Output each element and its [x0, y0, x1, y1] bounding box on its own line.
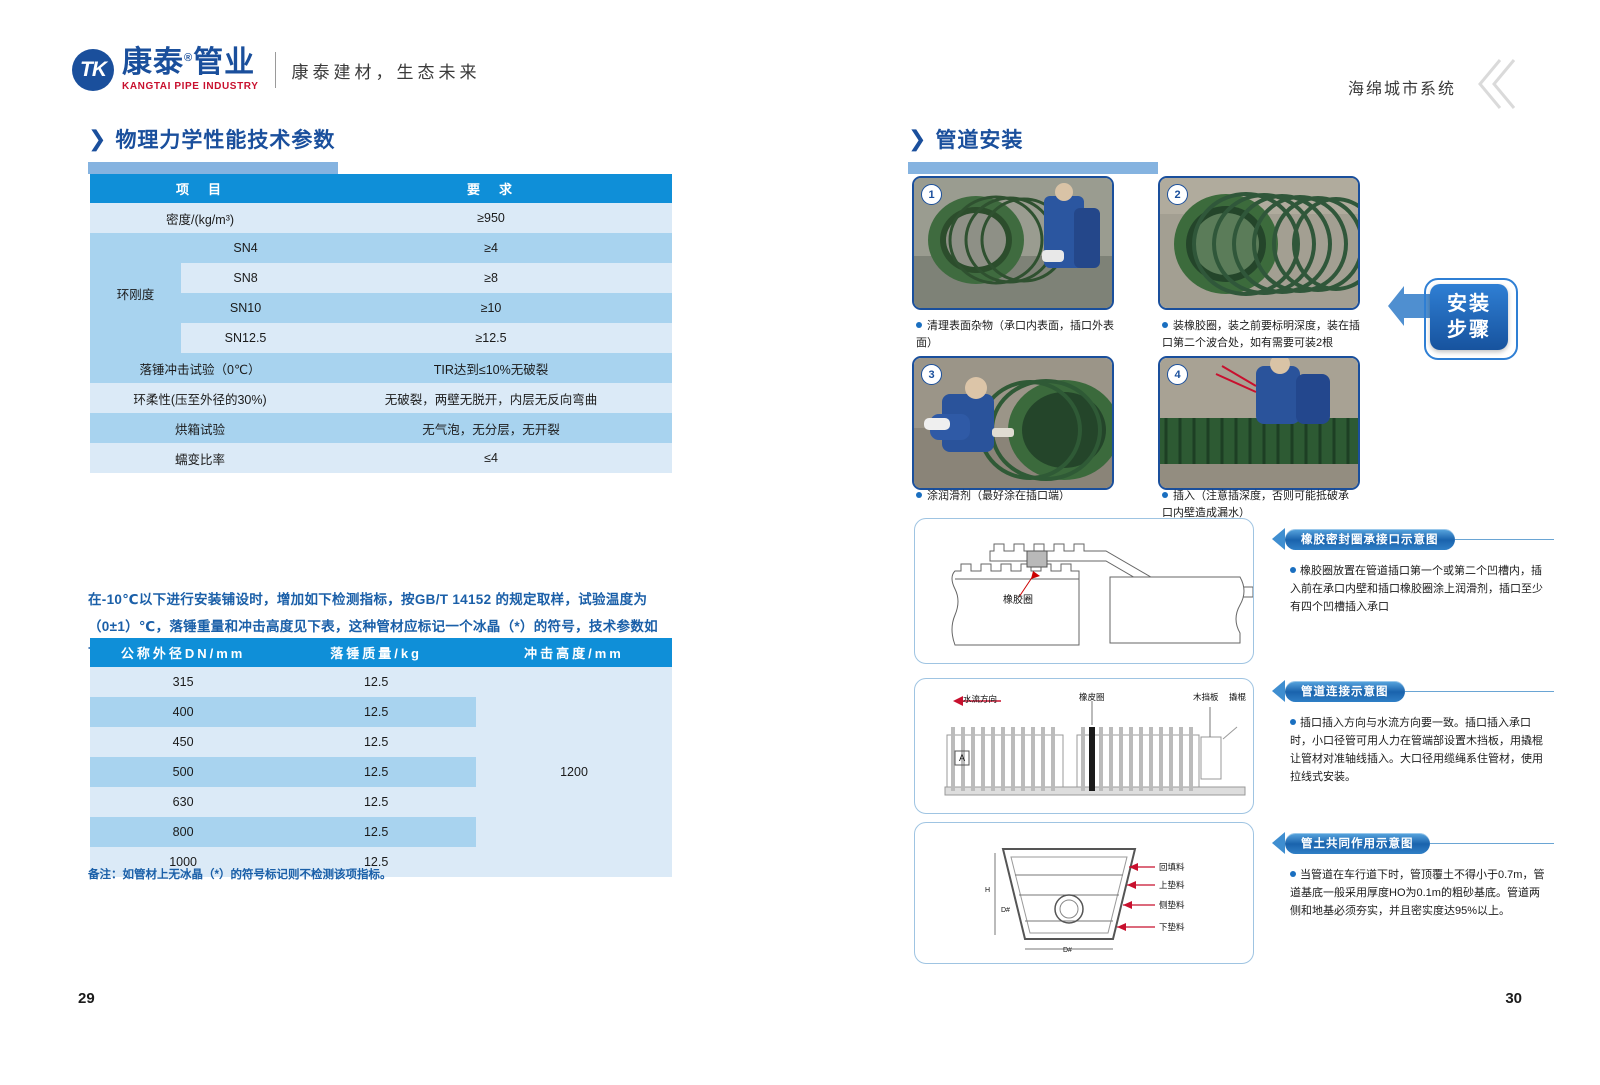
install-step-photo-3: 3 [912, 356, 1114, 490]
mechanical-parameters-table: 项 目 要 求 密度/(kg/m³) ≥950 环刚度 SN4 ≥4 SN8 ≥… [90, 174, 672, 473]
drop-hammer-table: 公称外径DN/mm 落锤质量/kg 冲击高度/mm 315 12.5 1200 … [90, 638, 672, 877]
header-right: 海绵城市系统 [1348, 56, 1522, 117]
t1-req: ≥10 [310, 293, 672, 323]
table2-col-dn: 公称外径DN/mm [90, 638, 276, 667]
left-section-title: ❯ 物理力学性能技术参数 [88, 124, 688, 154]
table-row: 环刚度 SN4 ≥4 [90, 233, 672, 263]
caption-text: 装橡胶圈，装之前要标明深度，装在插口第二个波合处，如有需要可装2根 [1162, 320, 1360, 349]
diagram3-label-h: H [985, 887, 990, 894]
install-step-photo-1: 1 [912, 176, 1114, 310]
ribbon-line [1405, 691, 1555, 692]
diagram3-label-d2: D# [1063, 947, 1072, 954]
diagram2-ribbon: 管道连接示意图 [1272, 680, 1554, 702]
bullet-icon [1290, 871, 1296, 877]
right-section-title: ❯ 管道安装 [908, 124, 1508, 154]
t2-dn: 630 [90, 787, 276, 817]
header-system-title: 海绵城市系统 [1348, 75, 1456, 99]
badge-line-2: 步骤 [1447, 317, 1491, 343]
t2-dn: 500 [90, 757, 276, 787]
brand-slogan: 康泰建材，生态未来 [292, 58, 481, 83]
t2-dn: 800 [90, 817, 276, 847]
install-step-photo-4: 4 [1158, 356, 1360, 490]
t1-req: 无气泡，无分层，无开裂 [310, 413, 672, 443]
step-badge-1: 1 [921, 184, 942, 205]
table2-col-height: 冲击高度/mm [476, 638, 672, 667]
diagram3-description: 当管道在车行道下时，管顶覆土不得小于0.7m，管道基底一般采用厚度HO为0.1m… [1290, 866, 1548, 920]
t2-mass: 12.5 [276, 667, 476, 697]
bullet-icon [916, 322, 922, 328]
ribbon-line [1455, 539, 1555, 540]
caption-text: 清理表面杂物（承口内表面，插口外表面） [916, 320, 1114, 349]
t1-item: 落锤冲击试验（0℃） [90, 353, 310, 383]
diagram2-label-flow: 水流方向 [963, 693, 997, 705]
logo-cn-line: 康泰®管业 [122, 48, 259, 78]
table2-header-row: 公称外径DN/mm 落锤质量/kg 冲击高度/mm [90, 638, 672, 667]
diagram2-label-rubber: 橡皮圈 [1079, 691, 1105, 703]
logo-mark-text: TK [80, 58, 106, 82]
chevron-right-icon: ❯ [908, 126, 927, 152]
swoosh-icon [1470, 56, 1522, 117]
diagram3-label-backfill: 回填料 [1159, 861, 1185, 873]
diagram-card-seal-ring: 橡胶圈 [914, 518, 1254, 664]
ribbon-arrow-icon [1272, 680, 1285, 702]
diagram3-ribbon-label: 管土共同作用示意图 [1285, 833, 1430, 854]
diagram2-label-a: A [959, 753, 965, 763]
diagram1-label-rubber-ring: 橡胶圈 [1003, 591, 1033, 606]
diagram2-description: 插口插入方向与水流方向要一致。插口插入承口时，小口径管可用人力在管端部设置木挡板… [1290, 714, 1548, 786]
install-step-caption-1: 清理表面杂物（承口内表面，插口外表面） [916, 318, 1126, 352]
table-row: 环柔性(压至外径的30%) 无破裂，两壁无脱开，内层无反向弯曲 [90, 383, 672, 413]
t2-mass: 12.5 [276, 817, 476, 847]
page-number-right: 30 [1505, 990, 1522, 1007]
t2-height: 1200 [476, 667, 672, 877]
diagram-card-pipe-connection: 水流方向 橡皮圈 木挡板 撬棍 A [914, 678, 1254, 814]
bullet-icon [1290, 719, 1296, 725]
diagram2-ribbon-label: 管道连接示意图 [1285, 681, 1405, 702]
t1-item: 烘箱试验 [90, 413, 310, 443]
page-header: TK 康泰®管业 KANGTAI PIPE INDUSTRY 康泰建材，生态未来… [0, 0, 1600, 108]
diagram3-label-d1: D# [1001, 907, 1010, 914]
left-section-bar [88, 162, 338, 174]
table-row: 蠕变比率 ≤4 [90, 443, 672, 473]
t2-mass: 12.5 [276, 787, 476, 817]
t1-item: 蠕变比率 [90, 443, 310, 473]
desc-text: 插口插入方向与水流方向要一致。插口插入承口时，小口径管可用人力在管端部设置木挡板… [1290, 717, 1543, 783]
diagram1-ribbon: 橡胶密封圈承接口示意图 [1272, 528, 1554, 550]
document-page: TK 康泰®管业 KANGTAI PIPE INDUSTRY 康泰建材，生态未来… [0, 0, 1600, 1085]
t1-sub: SN10 [181, 293, 310, 323]
diagram3-label-side: 侧垫料 [1159, 899, 1185, 911]
t2-dn: 315 [90, 667, 276, 697]
logo-cn-1: 康泰 [122, 46, 184, 79]
table1-col-item: 项 目 [90, 174, 310, 203]
table-row: 烘箱试验 无气泡，无分层，无开裂 [90, 413, 672, 443]
logo-wordmark: 康泰®管业 KANGTAI PIPE INDUSTRY [122, 48, 259, 92]
t1-req: ≤4 [310, 443, 672, 473]
install-step-caption-4: 插入（注意插深度，否则可能抵破承口内壁造成漏水） [1162, 488, 1352, 522]
right-section-bar [908, 162, 1158, 174]
logo-cn-2: 管业 [193, 46, 255, 79]
caption-text: 插入（注意插深度，否则可能抵破承口内壁造成漏水） [1162, 490, 1349, 519]
t2-mass: 12.5 [276, 727, 476, 757]
table-row: 密度/(kg/m³) ≥950 [90, 203, 672, 233]
t1-sub: SN12.5 [181, 323, 310, 353]
t1-req: ≥950 [310, 203, 672, 233]
install-step-caption-3: 涂润滑剂（最好涂在插口端） [916, 488, 1126, 505]
table1-col-req: 要 求 [310, 174, 672, 203]
logo-divider [275, 52, 276, 88]
left-section-header: ❯ 物理力学性能技术参数 [88, 124, 688, 174]
t2-dn: 400 [90, 697, 276, 727]
t1-req: ≥4 [310, 233, 672, 263]
diagram-card-soil-interaction: 回填料 上垫料 侧垫料 下垫料 H D# D# [914, 822, 1254, 964]
table2-note: 备注：如管材上无冰晶（*）的符号标记则不检测该项指标。 [88, 866, 391, 882]
step-badge-4: 4 [1167, 364, 1188, 385]
table-row: 落锤冲击试验（0℃） TIR达到≤10%无破裂 [90, 353, 672, 383]
t1-sub: SN4 [181, 233, 310, 263]
diagram3-label-upper: 上垫料 [1159, 879, 1185, 891]
diagram3-label-lower: 下垫料 [1159, 921, 1185, 933]
install-step-caption-2: 装橡胶圈，装之前要标明深度，装在插口第二个波合处，如有需要可装2根 [1162, 318, 1360, 352]
desc-text: 橡胶圈放置在管道插口第一个或第二个凹槽内，插入前在承口内壁和插口橡胶圈涂上润滑剂… [1290, 565, 1543, 613]
right-section-title-text: 管道安装 [935, 124, 1023, 154]
desc-text: 当管道在车行道下时，管顶覆土不得小于0.7m，管道基底一般采用厚度HO为0.1m… [1290, 869, 1544, 917]
t1-item: 密度/(kg/m³) [90, 203, 310, 233]
bullet-icon [1162, 322, 1168, 328]
table-row: 315 12.5 1200 [90, 667, 672, 697]
diagram3-ribbon: 管土共同作用示意图 [1272, 832, 1554, 854]
t2-mass: 12.5 [276, 697, 476, 727]
step-badge-3: 3 [921, 364, 942, 385]
t1-req: ≥12.5 [310, 323, 672, 353]
install-step-photo-2: 2 [1158, 176, 1360, 310]
diagram2-label-board: 木挡板 [1193, 691, 1219, 703]
logo-en: KANGTAI PIPE INDUSTRY [122, 81, 259, 92]
ribbon-arrow-icon [1272, 528, 1285, 550]
t1-item: 环柔性(压至外径的30%) [90, 383, 310, 413]
right-section-header: ❯ 管道安装 [908, 124, 1508, 174]
ribbon-arrow-icon [1272, 832, 1285, 854]
step-badge-2: 2 [1167, 184, 1188, 205]
table1-header-row: 项 目 要 求 [90, 174, 672, 203]
bullet-icon [1162, 492, 1168, 498]
diagram1-description: 橡胶圈放置在管道插口第一个或第二个凹槽内，插入前在承口内壁和插口橡胶圈涂上润滑剂… [1290, 562, 1548, 616]
bullet-icon [1290, 567, 1296, 573]
brand-logo: TK 康泰®管业 KANGTAI PIPE INDUSTRY 康泰建材，生态未来 [72, 48, 481, 92]
diagram1-ribbon-label: 橡胶密封圈承接口示意图 [1285, 529, 1455, 550]
logo-registered-icon: ® [184, 52, 193, 64]
t1-sub: SN8 [181, 263, 310, 293]
caption-text: 涂润滑剂（最好涂在插口端） [927, 490, 1070, 502]
bullet-icon [916, 492, 922, 498]
diagram2-label-lever: 撬棍 [1229, 691, 1246, 703]
ribbon-line [1430, 843, 1555, 844]
t1-req: TIR达到≤10%无破裂 [310, 353, 672, 383]
t2-mass: 12.5 [276, 757, 476, 787]
t1-req: 无破裂，两壁无脱开，内层无反向弯曲 [310, 383, 672, 413]
chevron-right-icon: ❯ [88, 126, 107, 152]
page-number-left: 29 [78, 990, 95, 1007]
table2-col-mass: 落锤质量/kg [276, 638, 476, 667]
left-section-title-text: 物理力学性能技术参数 [115, 124, 335, 154]
install-steps-badge: 安装 步骤 [1430, 284, 1508, 350]
t1-req: ≥8 [310, 263, 672, 293]
logo-mark-icon: TK [72, 49, 114, 91]
t1-group-label: 环刚度 [90, 233, 181, 353]
badge-line-1: 安装 [1447, 291, 1491, 317]
t2-dn: 450 [90, 727, 276, 757]
